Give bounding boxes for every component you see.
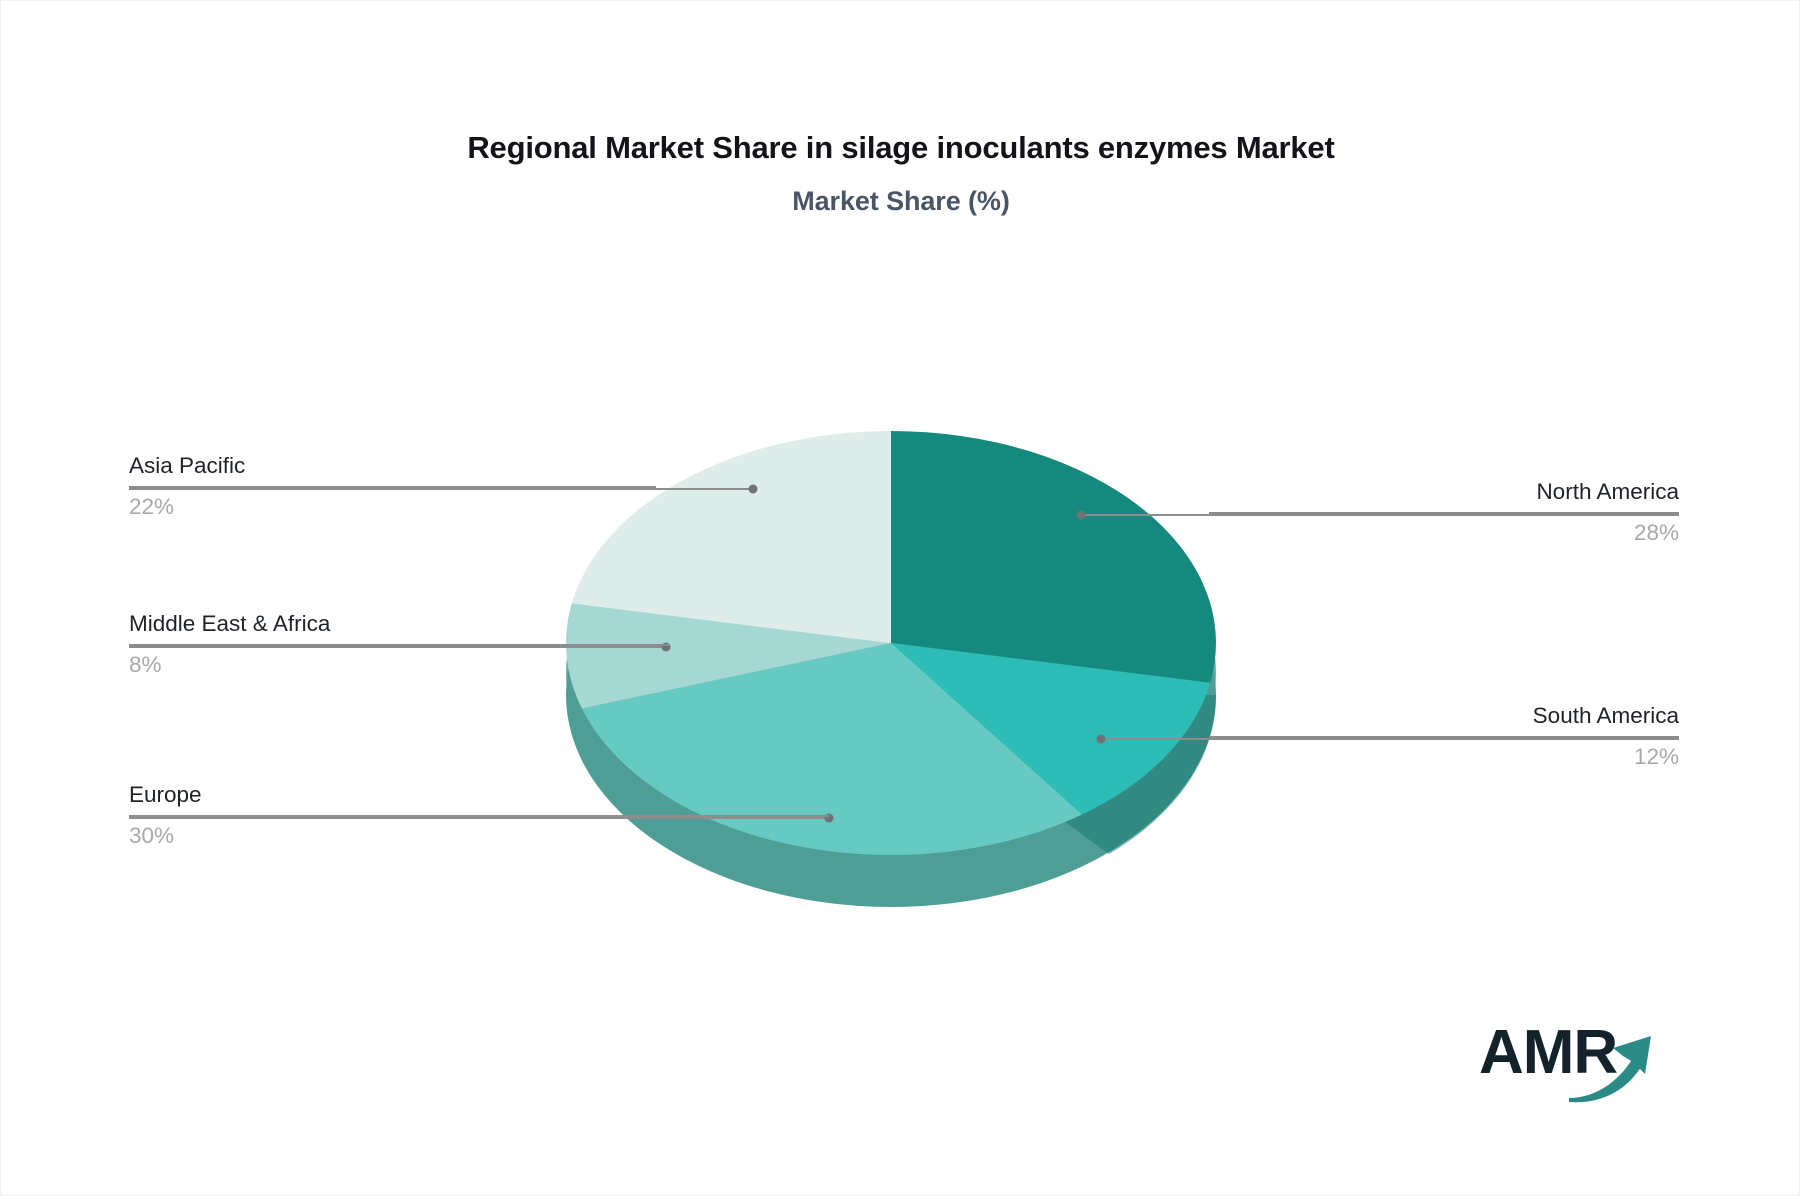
callout-europe: Europe 30% — [129, 782, 829, 849]
pie-3d-side-dark — [891, 695, 1216, 854]
callout-rule-europe — [129, 815, 829, 817]
callout-middle-east-africa: Middle East & Africa 8% — [129, 611, 669, 678]
callout-label-middle-east-africa: Middle East & Africa — [129, 611, 669, 637]
callout-rule-north-america — [1209, 512, 1679, 514]
callout-value-south-america: 12% — [1209, 744, 1679, 770]
callout-rule-asia-pacific — [129, 486, 656, 488]
amr-logo: AMR — [1479, 1022, 1659, 1102]
callout-value-europe: 30% — [129, 823, 829, 849]
leader-dot-asia-pacific — [749, 485, 758, 494]
callout-label-asia-pacific: Asia Pacific — [129, 453, 656, 479]
callout-south-america: South America 12% — [1209, 703, 1679, 770]
pie-slice-north-america[interactable] — [891, 431, 1216, 683]
callout-rule-south-america — [1209, 736, 1679, 738]
leader-dot-south-america — [1097, 735, 1106, 744]
callout-north-america: North America 28% — [1209, 479, 1679, 546]
chart-canvas: Regional Market Share in silage inoculan… — [0, 0, 1800, 1196]
callout-value-middle-east-africa: 8% — [129, 652, 669, 678]
callout-value-asia-pacific: 22% — [129, 494, 656, 520]
pie-slice-south-america[interactable] — [891, 643, 1210, 815]
page-title: Regional Market Share in silage inoculan… — [1, 129, 1800, 166]
growth-arrow-icon — [1567, 1032, 1662, 1104]
leader-dot-north-america — [1077, 511, 1086, 520]
callout-label-north-america: North America — [1209, 479, 1679, 505]
title-block: Regional Market Share in silage inoculan… — [1, 129, 1800, 217]
callout-rule-middle-east-africa — [129, 644, 669, 646]
callout-asia-pacific: Asia Pacific 22% — [129, 453, 656, 520]
callout-label-south-america: South America — [1209, 703, 1679, 729]
callout-value-north-america: 28% — [1209, 520, 1679, 546]
callout-label-europe: Europe — [129, 782, 829, 808]
chart-subtitle: Market Share (%) — [1, 186, 1800, 217]
